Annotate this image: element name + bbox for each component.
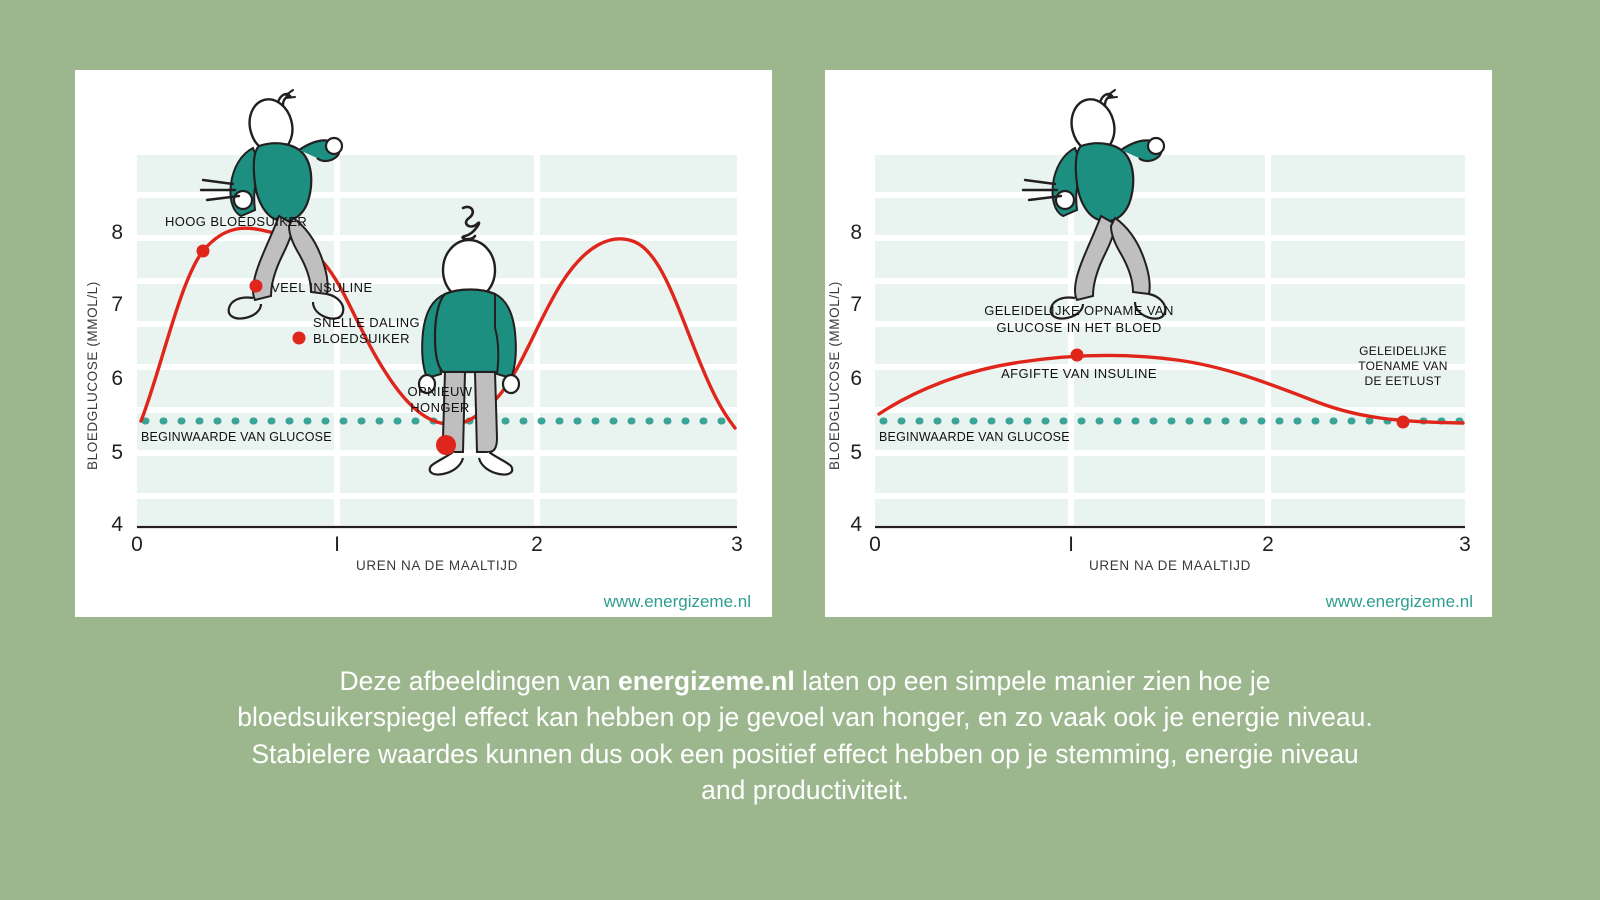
left-chart-svg: 8 7 6 5 4 BLOEDGLUCOSE (MMOL/L) 0 I 2 3 … bbox=[75, 70, 772, 617]
marker-snelle-daling bbox=[293, 332, 306, 345]
y-axis-ticks: 8 7 6 5 4 bbox=[111, 221, 123, 536]
x-axis-ticks: 0 I 2 3 bbox=[131, 533, 743, 556]
y-tick-7: 7 bbox=[111, 293, 123, 316]
marker-geleidelijke-toename bbox=[1397, 416, 1410, 429]
x-tick-0-right: 0 bbox=[869, 533, 881, 556]
baseline-label: BEGINWAARDE VAN GLUCOSE bbox=[141, 430, 332, 444]
x-axis-ticks-right: 0 I 2 3 bbox=[869, 533, 1471, 556]
annot-toename-line2: TOENAME VAN bbox=[1358, 359, 1448, 373]
marker-veel-insuline bbox=[250, 280, 263, 293]
x-tick-1: I bbox=[334, 533, 340, 556]
chart-card-left: 8 7 6 5 4 BLOEDGLUCOSE (MMOL/L) 0 I 2 3 … bbox=[75, 70, 772, 617]
y-tick-4-right: 4 bbox=[850, 513, 862, 536]
y-axis-ticks-right: 8 7 6 5 4 bbox=[850, 221, 862, 536]
x-tick-2-right: 2 bbox=[1262, 533, 1274, 556]
annot-opname-line1: GELEIDELIJKE OPNAME VAN bbox=[984, 303, 1174, 318]
annot-toename-line1: GELEIDELIJKE bbox=[1359, 344, 1447, 358]
y-tick-4: 4 bbox=[111, 513, 123, 536]
annot-opname-line2: GLUCOSE IN HET BLOED bbox=[996, 320, 1161, 335]
y-tick-6-right: 6 bbox=[850, 367, 862, 390]
chart-card-right: 8 7 6 5 4 BLOEDGLUCOSE (MMOL/L) 0 I 2 3 … bbox=[825, 70, 1492, 617]
annot-toename-line3: DE EETLUST bbox=[1364, 374, 1441, 388]
x-tick-3-right: 3 bbox=[1459, 533, 1471, 556]
page-caption: Deze afbeeldingen van energizeme.nl late… bbox=[230, 663, 1380, 808]
caption-brand: energizeme.nl bbox=[618, 666, 795, 696]
caption-text-part1: Deze afbeeldingen van bbox=[339, 666, 617, 696]
x-tick-3: 3 bbox=[731, 533, 743, 556]
annot-geleidelijke-toename: GELEIDELIJKE TOENAME VAN DE EETLUST bbox=[1358, 344, 1448, 388]
footer-url-right: www.energizeme.nl bbox=[1325, 592, 1473, 611]
x-tick-0: 0 bbox=[131, 533, 143, 556]
y-tick-7-right: 7 bbox=[850, 293, 862, 316]
y-axis-title: BLOEDGLUCOSE (MMOL/L) bbox=[85, 281, 100, 470]
right-chart-svg: 8 7 6 5 4 BLOEDGLUCOSE (MMOL/L) 0 I 2 3 … bbox=[825, 70, 1492, 617]
annot-veel-insuline: VEEL INSULINE bbox=[271, 280, 373, 295]
marker-hoog-bloedsuiker bbox=[197, 245, 210, 258]
baseline-label-right: BEGINWAARDE VAN GLUCOSE bbox=[879, 430, 1070, 444]
y-tick-5-right: 5 bbox=[850, 441, 862, 464]
annot-snelle-daling-line1: SNELLE DALING bbox=[313, 315, 420, 330]
x-tick-2: 2 bbox=[531, 533, 543, 556]
plot-bands-right bbox=[875, 155, 1465, 525]
annot-opnieuw-honger-line2: HONGER bbox=[410, 400, 469, 415]
x-axis-title-right: UREN NA DE MAALTIJD bbox=[1089, 558, 1251, 573]
y-tick-6: 6 bbox=[111, 367, 123, 390]
footer-url-left: www.energizeme.nl bbox=[603, 592, 751, 611]
annot-opnieuw-honger-line1: OPNIEUW bbox=[408, 384, 473, 399]
annot-snelle-daling: SNELLE DALING BLOEDSUIKER bbox=[313, 315, 420, 346]
annot-snelle-daling-line2: BLOEDSUIKER bbox=[313, 331, 410, 346]
x-tick-1-right: I bbox=[1068, 533, 1074, 556]
annot-afgifte-insuline: AFGIFTE VAN INSULINE bbox=[1001, 366, 1157, 381]
annot-hoog-bloedsuiker: HOOG BLOEDSUIKER bbox=[165, 214, 307, 229]
y-tick-5: 5 bbox=[111, 441, 123, 464]
y-axis-title-right: BLOEDGLUCOSE (MMOL/L) bbox=[827, 281, 842, 470]
x-axis-title: UREN NA DE MAALTIJD bbox=[356, 558, 518, 573]
marker-geleidelijke-opname bbox=[1071, 349, 1084, 362]
y-tick-8: 8 bbox=[111, 221, 123, 244]
annot-opnieuw-honger: OPNIEUW HONGER bbox=[408, 384, 473, 415]
marker-opnieuw-honger bbox=[436, 435, 456, 455]
y-tick-8-right: 8 bbox=[850, 221, 862, 244]
